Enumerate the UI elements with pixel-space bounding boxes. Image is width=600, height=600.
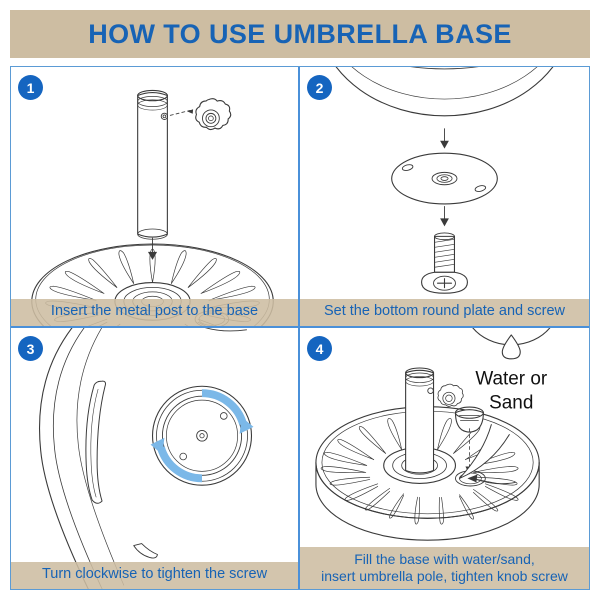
instruction-panel-grid: 1 Insert the metal post to the base [10,66,590,590]
illustration-insert-post [11,67,298,326]
panel-caption-1: Insert the metal post to the base [11,299,298,326]
panel-step-1: 1 Insert the metal post to the base [11,67,300,328]
clockwise-arrow-heads [151,417,254,455]
caption-line: Insert the metal post to the base [15,303,294,321]
knob-leader-line [170,110,190,115]
panel-caption-2: Set the bottom round plate and screw [300,299,589,326]
base-underside-shape [318,67,571,116]
round-plate-closeup-shape [153,386,252,485]
knob-screw-shape [438,384,463,406]
step-badge-4: 4 [307,336,332,361]
panel-caption-3: Turn clockwise to tighten the screw [11,562,298,589]
knob-screw-shape [196,99,231,130]
caption-line: Fill the base with water/sand, [304,551,585,568]
caption-line: Turn clockwise to tighten the screw [15,566,294,584]
clockwise-arrows [161,393,243,478]
step-badge-2: 2 [307,75,332,100]
panel-caption-4: Fill the base with water/sand, insert um… [300,547,589,589]
pole-shape [406,368,434,473]
panel-step-2: 2 Set the bottom round plate and screw [300,67,589,328]
illustration-turn-clockwise [11,328,298,589]
caption-line: insert umbrella pole, tighten knob screw [304,568,585,585]
callout-line-1: Water or [475,369,547,390]
screw-shape [422,233,468,293]
round-plate-shape [392,153,498,204]
panel-step-3: 3 Turn clockwise to tighten the screw [11,328,300,589]
callout-line-2: Sand [489,393,533,414]
step-badge-1: 1 [18,75,43,100]
header-band: HOW TO USE UMBRELLA BASE [10,10,590,58]
caption-line: Set the bottom round plate and screw [304,303,585,321]
base-edge-handle-shape [40,328,247,589]
step-badge-3: 3 [18,336,43,361]
metal-post-shape [138,90,168,239]
illustration-bottom-plate-screw [300,67,589,326]
panel-step-4: Water or Sand 4 Fill the base with water… [300,328,589,589]
page-title: HOW TO USE UMBRELLA BASE [88,19,512,50]
